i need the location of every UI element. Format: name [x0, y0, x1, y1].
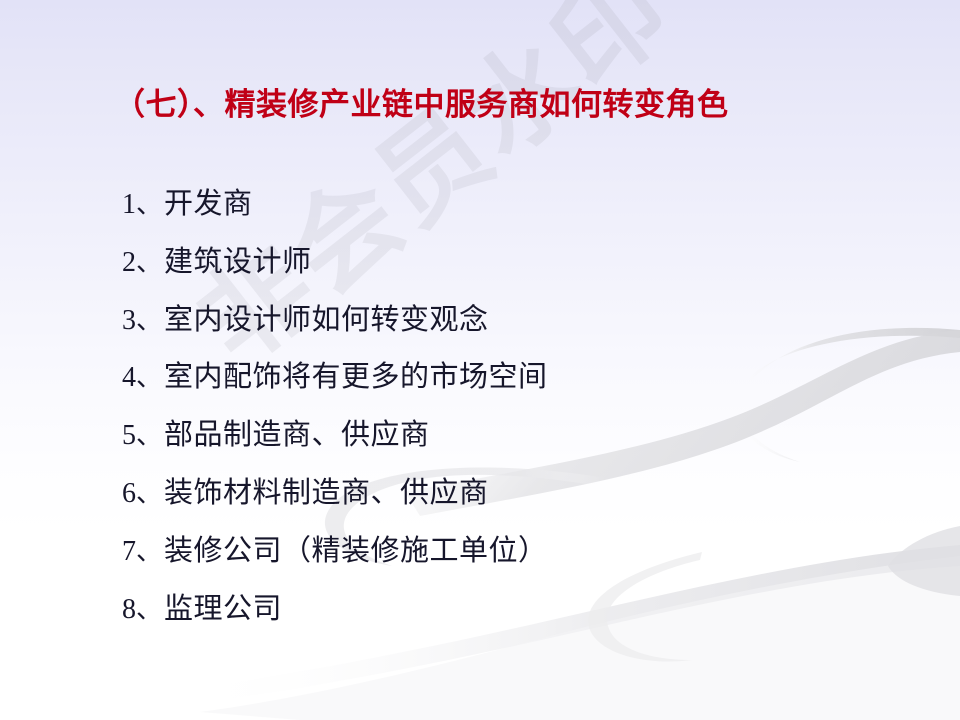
list-item-label: 室内设计师如何转变观念: [164, 305, 489, 334]
list-item-label: 装修公司（精装修施工单位）: [164, 536, 548, 565]
list-item-number: 6: [122, 480, 136, 508]
list-item: 4 、 室内配饰将有更多的市场空间: [122, 362, 862, 420]
list-item-label: 开发商: [164, 189, 253, 218]
list-item-number: 4: [122, 364, 136, 392]
list-item-separator: 、: [136, 481, 162, 507]
list-item-number: 5: [122, 422, 136, 450]
numbered-list: 1 、 开发商 2 、 建筑设计师 3 、 室内设计师如何转变观念 4 、 室内…: [122, 189, 862, 651]
list-item-number: 3: [122, 307, 136, 335]
list-item-separator: 、: [136, 539, 162, 565]
list-item: 6 、 装饰材料制造商、供应商: [122, 478, 862, 536]
list-item-separator: 、: [136, 192, 162, 218]
list-item-label: 监理公司: [164, 594, 282, 623]
slide-title: （七）、精装修产业链中服务商如何转变角色: [114, 86, 729, 125]
list-item-separator: 、: [136, 308, 162, 334]
list-item: 2 、 建筑设计师: [122, 247, 862, 305]
list-item: 8 、 监理公司: [122, 594, 862, 652]
list-item-number: 2: [122, 249, 136, 277]
list-item-separator: 、: [136, 597, 162, 623]
list-item: 7 、 装修公司（精装修施工单位）: [122, 536, 862, 594]
list-item-number: 7: [122, 538, 136, 566]
list-item-separator: 、: [136, 250, 162, 276]
list-item-separator: 、: [136, 423, 162, 449]
list-item-label: 室内配饰将有更多的市场空间: [164, 362, 548, 391]
list-item: 1 、 开发商: [122, 189, 862, 247]
list-item-label: 部品制造商、供应商: [164, 420, 430, 449]
list-item: 3 、 室内设计师如何转变观念: [122, 305, 862, 363]
list-item-label: 装饰材料制造商、供应商: [164, 478, 489, 507]
list-item: 5 、 部品制造商、供应商: [122, 420, 862, 478]
list-item-label: 建筑设计师: [164, 247, 312, 276]
list-item-number: 8: [122, 596, 136, 624]
list-item-separator: 、: [136, 365, 162, 391]
list-item-number: 1: [122, 191, 136, 219]
slide-canvas: 非会员水印 （七）、精装修产业链中服务商如何转变角色 1 、 开发商 2 、 建…: [0, 0, 960, 720]
